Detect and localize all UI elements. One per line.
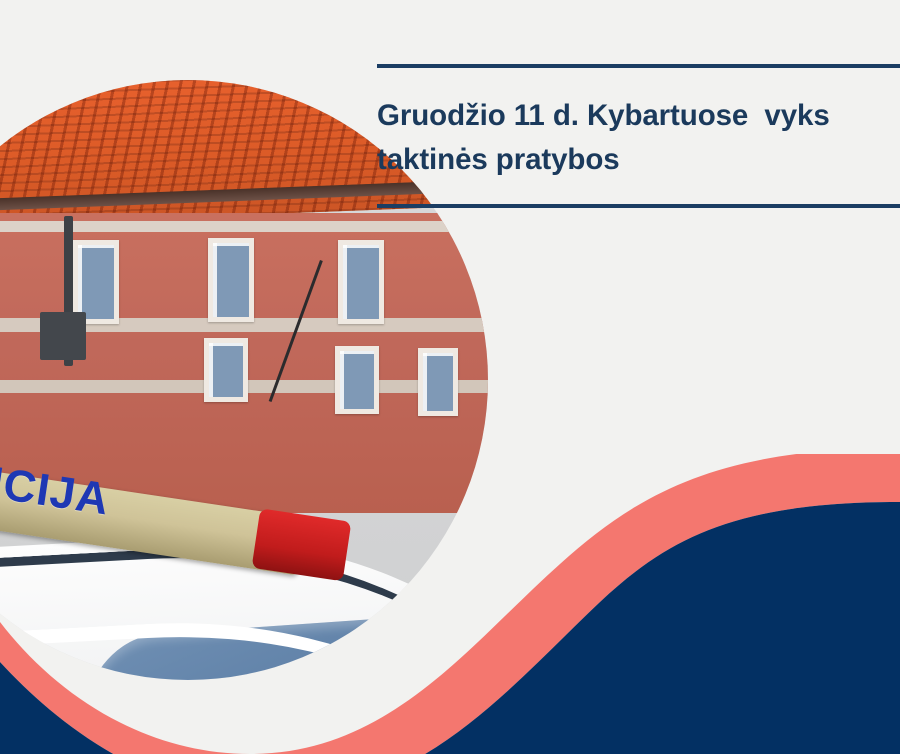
building-window [208, 238, 254, 322]
poster-canvas: POLICIJA Gruodžio 11 d. Kybartuose vyks … [0, 0, 900, 754]
police-car: POLICIJA [0, 380, 568, 754]
bottom-divider-rule [377, 204, 900, 208]
top-divider-rule [377, 64, 900, 68]
page-title: Gruodžio 11 d. Kybartuose vyks taktinės … [377, 94, 900, 182]
building-window [338, 240, 384, 324]
facade-cornice-upper [0, 221, 548, 232]
headline-block: Gruodžio 11 d. Kybartuose vyks taktinės … [377, 64, 900, 208]
wall-fixture [40, 312, 86, 360]
